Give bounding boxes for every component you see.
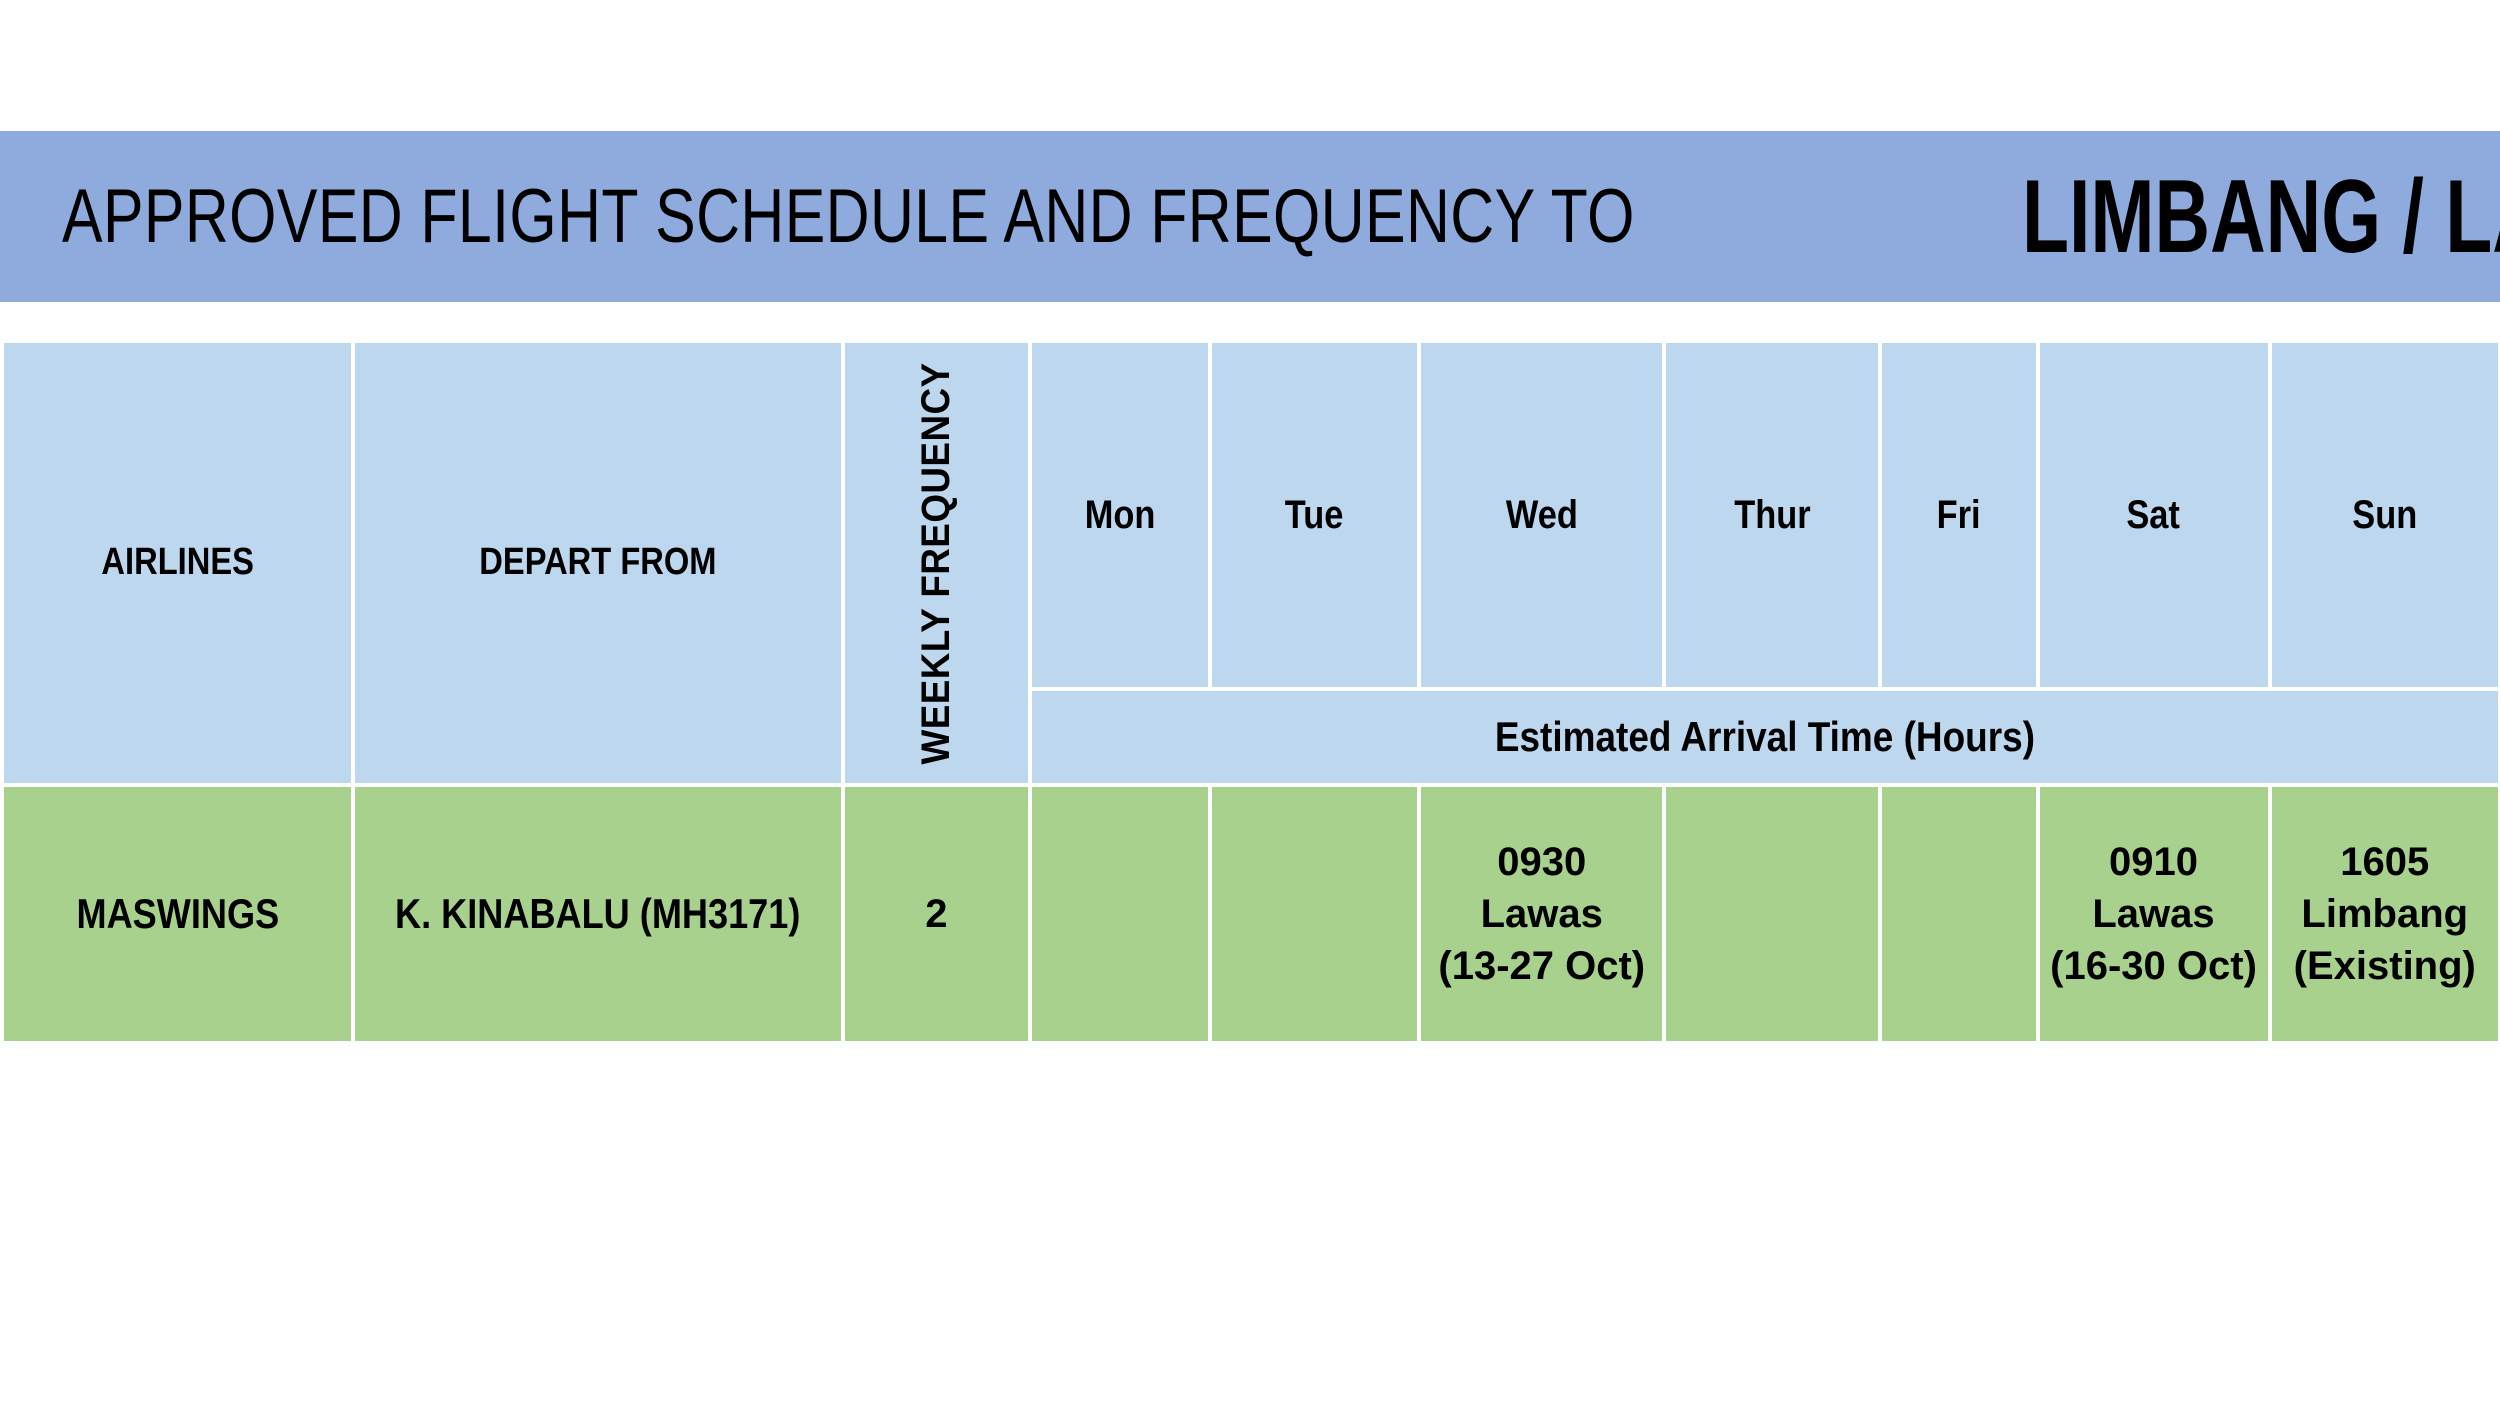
table-header-row-days: AIRLINES DEPART FROM WEEKLY FREQUENCY Mo… — [2, 341, 2500, 689]
page-title-prefix: APPROVED FLIGHT SCHEDULE AND FREQUENCY T… — [62, 179, 1635, 255]
slide-page: APPROVED FLIGHT SCHEDULE AND FREQUENCY T… — [0, 0, 2500, 1406]
cell-schedule-sun: 1605 Limbang (Existing) — [2270, 785, 2500, 1043]
value-destination-sun: Limbang — [2301, 888, 2468, 940]
value-note-sun: (Existing) — [2294, 940, 2476, 992]
value-time-wed: 0930 — [1497, 836, 1586, 888]
cell-schedule-thur — [1664, 785, 1880, 1043]
header-label-weekly-frequency: WEEKLY FREQUENCY — [916, 362, 956, 764]
header-label-day-sun: Sun — [2352, 494, 2417, 536]
cell-weekly-frequency: 2 — [843, 785, 1031, 1043]
header-cell-day-thur: Thur — [1664, 341, 1880, 689]
header-cell-day-sun: Sun — [2270, 341, 2500, 689]
header-cell-day-tue: Tue — [1210, 341, 1420, 689]
value-note-sat: (16-30 Oct) — [2050, 940, 2257, 992]
header-label-day-sat: Sat — [2127, 494, 2181, 536]
cell-schedule-tue — [1210, 785, 1420, 1043]
schedule-stack-sun: 1605 Limbang (Existing) — [2272, 836, 2498, 992]
schedule-stack-wed: 0930 Lawas (13-27 Oct) — [1421, 836, 1662, 992]
header-label-day-tue: Tue — [1285, 494, 1344, 536]
header-cell-weekly-frequency: WEEKLY FREQUENCY — [843, 341, 1031, 785]
vertical-header-wrap: WEEKLY FREQUENCY — [845, 343, 1029, 783]
header-cell-depart-from: DEPART FROM — [353, 341, 842, 785]
value-note-wed: (13-27 Oct) — [1438, 940, 1645, 992]
header-label-day-wed: Wed — [1506, 494, 1578, 536]
flight-schedule-table: AIRLINES DEPART FROM WEEKLY FREQUENCY Mo… — [2, 341, 2500, 1043]
value-destination-wed: Lawas — [1481, 888, 1603, 940]
cell-airline: MASWINGS — [2, 785, 353, 1043]
header-label-day-thur: Thur — [1734, 494, 1810, 536]
value-weekly-frequency: 2 — [925, 892, 947, 936]
value-airline: MASWINGS — [76, 892, 279, 936]
cell-schedule-mon — [1030, 785, 1210, 1043]
header-label-airlines: AIRLINES — [101, 543, 254, 583]
cell-depart-from: K. KINABALU (MH3171) — [353, 785, 842, 1043]
header-label-day-mon: Mon — [1085, 494, 1156, 536]
header-label-estimated-arrival-time: Estimated Arrival Time (Hours) — [1495, 715, 2035, 759]
header-cell-day-sat: Sat — [2038, 341, 2270, 689]
page-title-emphasis: LIMBANG / LAWAS — [2022, 165, 2500, 269]
schedule-stack-sat: 0910 Lawas (16-30 Oct) — [2040, 836, 2268, 992]
cell-schedule-sat: 0910 Lawas (16-30 Oct) — [2038, 785, 2270, 1043]
cell-schedule-wed: 0930 Lawas (13-27 Oct) — [1419, 785, 1664, 1043]
table-row: MASWINGS K. KINABALU (MH3171) 2 — [2, 785, 2500, 1043]
title-banner: APPROVED FLIGHT SCHEDULE AND FREQUENCY T… — [0, 131, 2500, 302]
value-destination-sat: Lawas — [2092, 888, 2214, 940]
header-cell-day-wed: Wed — [1419, 341, 1664, 689]
header-label-depart-from: DEPART FROM — [479, 543, 716, 583]
header-cell-airlines: AIRLINES — [2, 341, 353, 785]
value-time-sat: 0910 — [2109, 836, 2198, 888]
header-cell-day-mon: Mon — [1030, 341, 1210, 689]
header-cell-estimated-arrival-time: Estimated Arrival Time (Hours) — [1030, 689, 2500, 785]
header-label-day-fri: Fri — [1937, 494, 1981, 536]
header-cell-day-fri: Fri — [1880, 341, 2037, 689]
value-time-sun: 1605 — [2340, 836, 2429, 888]
value-depart-from: K. KINABALU (MH3171) — [395, 892, 800, 936]
cell-schedule-fri — [1880, 785, 2037, 1043]
